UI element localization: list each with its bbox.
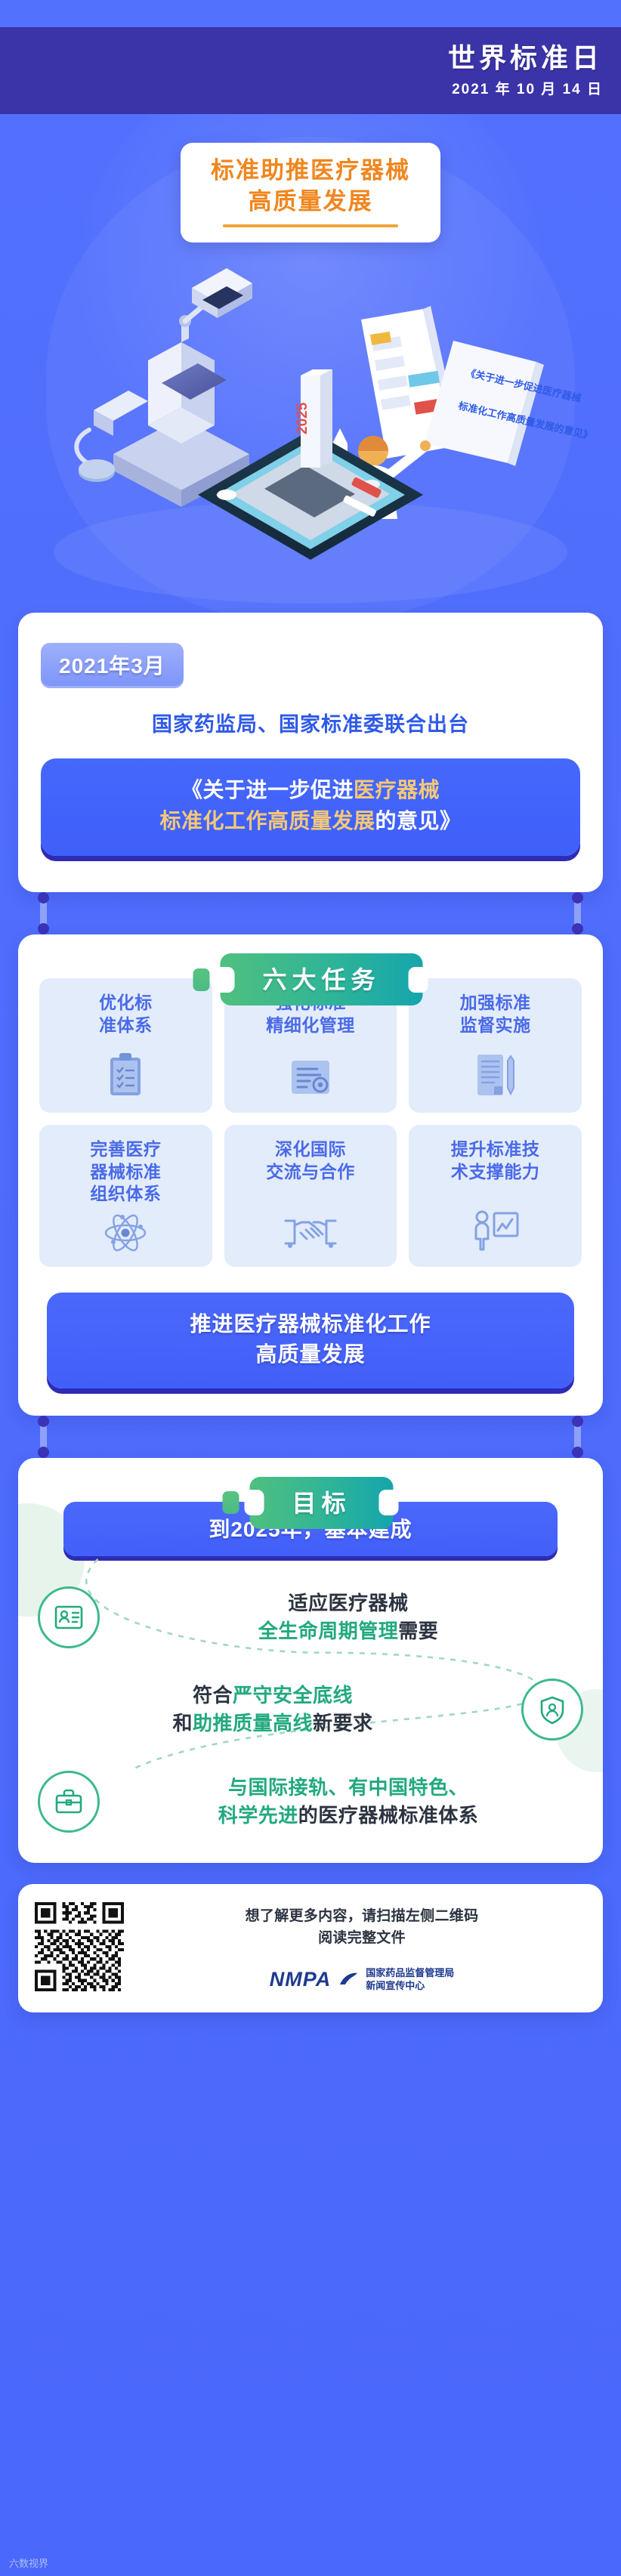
footer-card: 想了解更多内容，请扫描左侧二维码 阅读完整文件 NMPA 国家药品监督管理局 新…: [18, 1884, 603, 2013]
summary-line1: 推进医疗器械标准化工作: [62, 1309, 559, 1340]
main-title-card: 标准助推医疗器械 高质量发展: [181, 143, 440, 242]
document-title-line1: 《关于进一步促进医疗器械: [59, 775, 562, 806]
goal-text: 符合严守安全底线 和助推质量高线新要求: [38, 1682, 508, 1737]
monitor-number: 2025: [295, 402, 310, 434]
header-date: 2021 年 10 月 14 日: [452, 78, 603, 98]
nmpa-wordmark: NMPA: [270, 1968, 332, 1991]
doc-title-gold-2: 标准化工作高质量发展: [159, 809, 375, 832]
goals-heading: 目标: [249, 1477, 393, 1529]
task-label: 深化国际: [275, 1138, 346, 1160]
tasks-heading-group: 六大任务: [193, 953, 428, 1005]
goal-plain-post: 新要求: [313, 1712, 373, 1734]
document-title-box: 《关于进一步促进医疗器械 标准化工作高质量发展的意见》: [41, 758, 580, 856]
goal-line1: 与国际接轨、有中国特色、: [113, 1774, 583, 1802]
infographic-page: 世界标准日 2021 年 10 月 14 日 标准助推医疗器械 高质量发展: [0, 0, 621, 2576]
document-pen-icon: [473, 1044, 518, 1102]
goal-item: 与国际接轨、有中国特色、 科学先进的医疗器械标准体系: [38, 1771, 583, 1833]
briefcase-icon: [38, 1771, 100, 1833]
top-strip: [0, 0, 621, 27]
connector-pin-right: [572, 892, 583, 934]
task-label: 完善医疗: [90, 1138, 161, 1160]
connector-pins-bottom: [18, 1416, 603, 1458]
task-label: 精细化管理: [266, 1015, 355, 1036]
document-title-line2: 标准化工作高质量发展的意见》: [59, 806, 562, 837]
main-title-line2: 高质量发展: [211, 187, 410, 218]
header-title: 世界标准日: [448, 43, 603, 73]
tasks-heading: 六大任务: [220, 953, 422, 1005]
task-card[interactable]: 优化标 准体系: [39, 978, 212, 1113]
hero-illustration: 《关于进一步促进医疗器械 标准化工作高质量发展的意见》: [0, 227, 621, 613]
task-card[interactable]: 完善医疗 器械标准 组织体系: [39, 1125, 212, 1266]
summary-line2: 高质量发展: [62, 1339, 559, 1370]
goals-notch-left: [244, 1490, 264, 1515]
goal-green-text-2: 科学先进: [218, 1804, 298, 1827]
goals-card: 目标 到2025年，基本建成 适应医疗器械: [18, 1458, 603, 1863]
tasks-heading-dot: [193, 968, 209, 991]
task-label: 交流与合作: [266, 1161, 355, 1183]
connector-pins-top: [18, 892, 603, 934]
goal-text: 适应医疗器械 全生命周期管理需要: [113, 1589, 583, 1645]
goal-text: 与国际接轨、有中国特色、 科学先进的医疗器械标准体系: [113, 1774, 583, 1830]
footer-right: 想了解更多内容，请扫描左侧二维码 阅读完整文件 NMPA 国家药品监督管理局 新…: [137, 1902, 586, 1994]
task-label: 提升标准技: [451, 1138, 540, 1160]
task-card[interactable]: 提升标准技 术支撑能力: [409, 1125, 582, 1266]
task-label: 加强标准: [460, 992, 531, 1014]
date-badge: 2021年3月: [41, 643, 184, 688]
goal-green-text-2: 助推质量高线: [193, 1712, 313, 1734]
tasks-card: 六大任务 优化标 准体系: [18, 934, 603, 1416]
goal-plain-text: 的医疗器械标准体系: [298, 1804, 479, 1827]
tasks-grid: 优化标 准体系 强化标准: [39, 978, 582, 1266]
task-label: 器械标准: [90, 1161, 161, 1183]
goal-green-text: 全生命周期管理: [258, 1620, 399, 1642]
footer-text-line2: 阅读完整文件: [137, 1927, 586, 1949]
tasks-notch-left: [215, 967, 234, 993]
connector-pin-right-2: [572, 1416, 583, 1458]
document-card: 2021年3月 国家药监局、国家标准委联合出台 《关于进一步促进医疗器械 标准化…: [18, 613, 603, 892]
nmpa-logo: NMPA 国家药品监督管理局 新闻宣传中心: [137, 1966, 586, 1994]
task-label: 准体系: [99, 1015, 153, 1036]
goal-line2: 和助推质量高线新要求: [38, 1710, 508, 1737]
task-label: 优化标: [99, 992, 153, 1014]
task-label: 组织体系: [90, 1183, 161, 1205]
person-chart-icon: [471, 1201, 521, 1256]
goal-green-text: 与国际接轨、有中国特色、: [228, 1776, 468, 1799]
goals-heading-group: 目标: [222, 1477, 398, 1529]
task-label: 术支撑能力: [451, 1161, 540, 1183]
doc-title-pre: 《关于进一步促进: [181, 778, 354, 802]
watermark: 六数视界: [9, 2556, 48, 2570]
certificate-gear-icon: [287, 1049, 334, 1102]
connector-pin-left: [38, 892, 49, 934]
doc-title-gold-1: 医疗器械: [354, 778, 440, 802]
clipboard-checklist-icon: [104, 1044, 147, 1102]
goals-heading-dot: [222, 1491, 239, 1514]
goal-plain-pre: 和: [172, 1712, 193, 1734]
goal-line1: 符合严守安全底线: [38, 1682, 508, 1710]
goals-notch-right: [379, 1490, 399, 1515]
doc-title-post: 的意见》: [375, 809, 462, 832]
goal-line2: 科学先进的医疗器械标准体系: [113, 1802, 583, 1830]
handshake-icon: [281, 1206, 340, 1256]
tasks-summary-box: 推进医疗器械标准化工作 高质量发展: [47, 1293, 574, 1388]
goal-plain-text: 需要: [398, 1620, 438, 1642]
goal-line2: 全生命周期管理需要: [113, 1617, 583, 1645]
goal-item: 符合严守安全底线 和助推质量高线新要求: [38, 1679, 583, 1740]
hero-section: 标准助推医疗器械 高质量发展: [0, 114, 621, 613]
id-card-icon: [38, 1586, 100, 1648]
qr-code[interactable]: [35, 1902, 124, 1991]
footer-text-line1: 想了解更多内容，请扫描左侧二维码: [137, 1905, 586, 1927]
shield-person-icon: [521, 1679, 583, 1740]
goal-plain-text: 符合: [193, 1684, 233, 1707]
nmpa-sub-line2: 新闻宣传中心: [366, 1980, 425, 1991]
nmpa-mark-icon: [338, 1971, 358, 1988]
task-card[interactable]: 加强标准 监督实施: [409, 978, 582, 1113]
task-card[interactable]: 深化国际 交流与合作: [224, 1125, 397, 1266]
nmpa-subtitle: 国家药品监督管理局 新闻宣传中心: [366, 1966, 454, 1994]
task-label: 监督实施: [460, 1015, 531, 1036]
goal-item: 适应医疗器械 全生命周期管理需要: [38, 1586, 583, 1648]
title-underline-decor: [223, 224, 398, 227]
nmpa-sub-line1: 国家药品监督管理局: [366, 1967, 454, 1978]
connector-pin-left-2: [38, 1416, 49, 1458]
main-title-line1: 标准助推医疗器械: [211, 156, 410, 187]
goal-line1: 适应医疗器械: [113, 1589, 583, 1617]
header-band: 世界标准日 2021 年 10 月 14 日: [0, 27, 621, 114]
issuer-text: 国家药监局、国家标准委联合出台: [41, 708, 580, 737]
tasks-notch-right: [409, 967, 428, 993]
atom-icon: [103, 1206, 148, 1256]
goal-green-text: 严守安全底线: [233, 1684, 353, 1707]
